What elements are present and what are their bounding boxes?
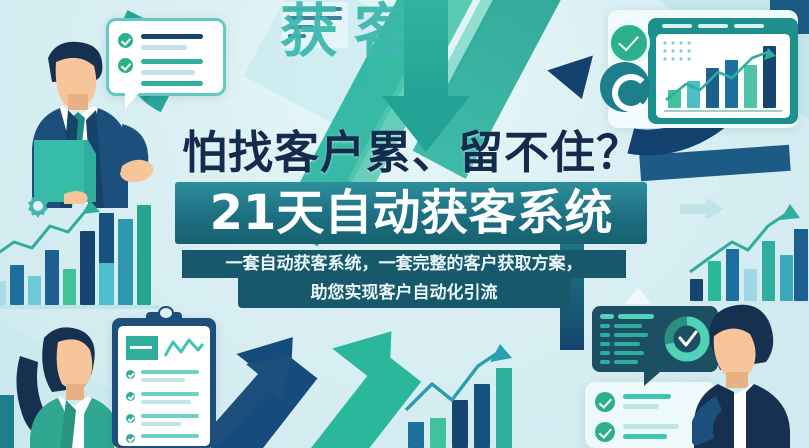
straight-arrow-down-teal-icon [404, 0, 448, 100]
clipboard-report [112, 318, 216, 448]
businessman-back-view-illustration [692, 300, 809, 448]
clipboard-bullet-icon [126, 434, 135, 443]
clipboard-text-line [141, 434, 199, 438]
left-trend-arrow-icon [0, 198, 112, 262]
clipboard-text-line [141, 414, 199, 418]
bubble-text-line [600, 314, 614, 319]
window-title-bar-segment [734, 24, 764, 28]
subtitle-line-1: 一套自动获客系统，一套完整的客户获取方案， [182, 250, 626, 278]
checklist-text-line [623, 424, 679, 429]
checklist-text-line [623, 404, 659, 409]
clipboard-bullet-icon [126, 414, 135, 423]
checklist-speech-bubble [106, 18, 226, 96]
chart-bar [28, 276, 41, 305]
bubble-text-line [141, 70, 195, 75]
check-circle-icon [118, 58, 133, 73]
checklist-text-line [623, 394, 671, 399]
bubble-tail [624, 288, 652, 304]
bottom-center-trend-arrow-icon [400, 340, 520, 414]
window-title-bar-segment [662, 24, 692, 28]
checklist-text-line [623, 434, 667, 439]
bubble-text-line [614, 351, 644, 355]
clipboard-clip-ring [158, 306, 174, 320]
headline-secondary: 21天自动获客系统 [178, 184, 644, 242]
bubble-text-line [141, 59, 203, 64]
bubble-text-line [614, 342, 640, 346]
chart-bar [408, 422, 424, 448]
clipboard-text-line [141, 422, 181, 426]
bubble-text-line [600, 342, 610, 346]
check-badge-icon [608, 22, 650, 64]
chart-bar [99, 263, 114, 305]
trend-arrow-icon [664, 48, 784, 108]
background-block [0, 395, 14, 448]
check-circle-icon [595, 392, 615, 412]
donut-spinner-icon [612, 74, 650, 112]
clipboard-text-line [141, 378, 185, 382]
chart-bar [430, 418, 446, 448]
bubble-text-line [141, 81, 203, 86]
clipboard-paper [118, 326, 210, 446]
clipboard-text-line [141, 370, 199, 374]
bubble-text-line [614, 360, 638, 364]
window-title-bar-segment [698, 24, 728, 28]
chart-bar [10, 265, 24, 305]
bubble-text-line [600, 360, 610, 364]
bubble-tail [644, 372, 660, 386]
chart-bar [690, 279, 703, 301]
bubble-text-line [614, 333, 648, 337]
chart-axis [664, 110, 782, 112]
clipboard-line-chart-icon [164, 336, 204, 360]
clipboard-bullet-icon [126, 392, 135, 401]
chart-bar [118, 219, 133, 305]
dashboard-window-frame [648, 18, 798, 124]
clipboard-bullet-icon [126, 370, 135, 379]
check-circle-icon [595, 422, 615, 442]
poster-canvas: 获客 [0, 0, 809, 448]
bubble-text-line [614, 324, 642, 328]
chart-bar [137, 205, 151, 305]
bubble-text-line [141, 34, 203, 39]
check-circle-icon [118, 33, 133, 48]
bubble-text-line [600, 351, 610, 355]
bubble-text-line [141, 45, 187, 50]
clipboard-text-line [141, 392, 199, 396]
bubble-text-line [618, 314, 654, 319]
small-right-arrow-icon [680, 196, 726, 218]
subtitle-line-2: 助您实现客户自动化引流 [238, 279, 570, 307]
clipboard-text-line [141, 400, 191, 404]
window-chart-area [656, 34, 790, 118]
chart-bar [0, 281, 6, 305]
clipboard-kpi-line [130, 346, 152, 349]
bubble-text-line [600, 333, 610, 337]
bubble-tail [125, 93, 139, 109]
bubble-text-line [600, 324, 610, 328]
headline-primary: 怕找客户累、留不住？ [182, 126, 642, 180]
chart-axis [0, 305, 159, 309]
chart-bar [63, 269, 76, 305]
